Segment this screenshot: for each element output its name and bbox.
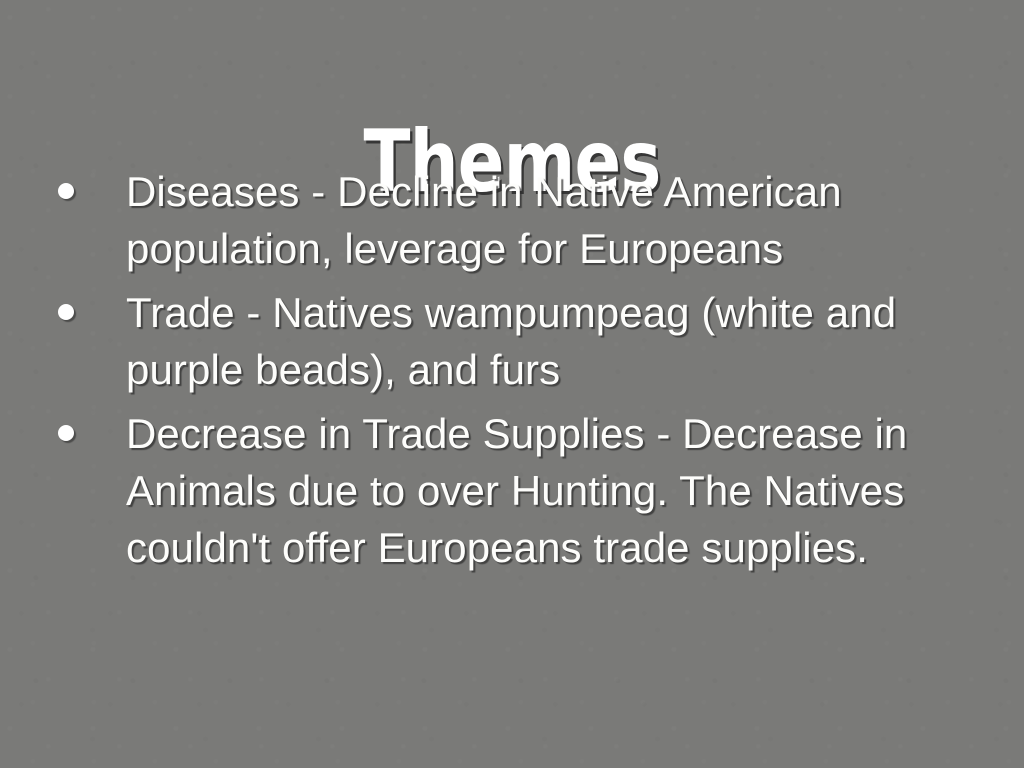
bullet-item-1: Diseases - Decline in Native American po…	[52, 163, 952, 277]
bullet-list: Diseases - Decline in Native American po…	[52, 163, 952, 576]
bullet-item-text: Trade - Natives wampumpeag (white and pu…	[126, 284, 952, 398]
bullet-dot-icon	[58, 304, 74, 320]
bullet-dot-icon	[58, 425, 74, 441]
bullet-item-text: Decrease in Trade Supplies - Decrease in…	[126, 405, 952, 576]
bullet-item-2: Trade - Natives wampumpeag (white and pu…	[52, 284, 952, 398]
bullet-item-text: Diseases - Decline in Native American po…	[126, 163, 952, 277]
presentation-slide: Themes Diseases - Decline in Native Amer…	[0, 0, 1024, 768]
bullet-dot-icon	[58, 183, 74, 199]
bullet-item-3: Decrease in Trade Supplies - Decrease in…	[52, 405, 952, 576]
